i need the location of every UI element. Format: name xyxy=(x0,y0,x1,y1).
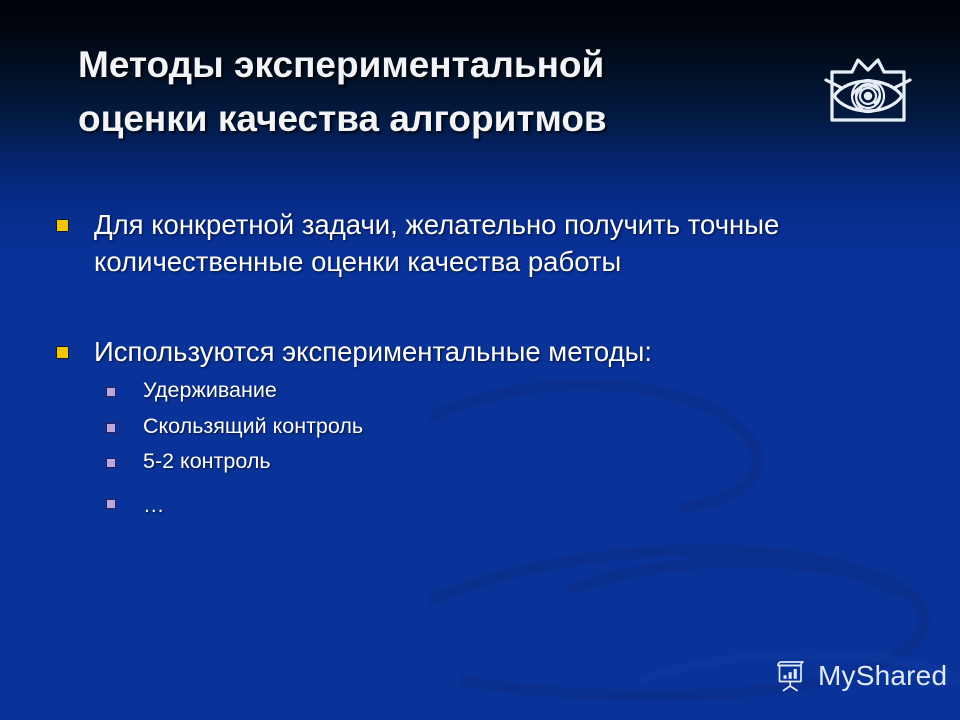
sub-bullet-item-2: Скользящий контроль xyxy=(52,416,932,438)
sub-bullet-item-1: Удерживание xyxy=(52,380,932,402)
slide-title-line-2: оценки качества алгоритмов xyxy=(78,92,798,146)
square-bullet-icon xyxy=(56,219,69,232)
eye-icon xyxy=(822,46,914,134)
square-bullet-icon xyxy=(56,346,69,359)
sub-bullet-item-2-label: Скользящий контроль xyxy=(143,414,363,438)
square-sub-bullet-icon xyxy=(106,458,116,468)
bullet-item-1-line-1: Для конкретной задачи, желательно получи… xyxy=(94,209,779,240)
bullet-item-2-line-1: Используются экспериментальные методы: xyxy=(94,336,652,367)
sub-bullet-item-4: … xyxy=(52,495,932,517)
bullet-item-1: Для конкретной задачи, желательно получи… xyxy=(52,206,932,281)
square-sub-bullet-icon xyxy=(106,423,116,433)
sub-bullet-item-3: 5-2 контроль xyxy=(52,451,932,473)
square-sub-bullet-icon xyxy=(106,387,116,397)
myshared-label: MyShared xyxy=(818,660,947,692)
bullet-item-1-line-2: количественные оценки качества работы xyxy=(94,246,621,277)
sub-bullet-item-1-label: Удерживание xyxy=(143,378,277,402)
slide-canvas: Методы экспериментальной оценки качества… xyxy=(0,0,960,720)
sub-bullet-item-4-label: … xyxy=(143,493,165,517)
sub-bullet-list: Удерживание Скользящий контроль 5-2 конт… xyxy=(52,380,932,516)
square-sub-bullet-icon xyxy=(106,499,116,509)
slide-title: Методы экспериментальной оценки качества… xyxy=(78,38,798,146)
bullet-item-2: Используются экспериментальные методы: xyxy=(52,333,932,370)
body-spacer xyxy=(52,281,932,333)
slide-body: Для конкретной задачи, желательно получи… xyxy=(52,206,932,516)
myshared-watermark: MyShared xyxy=(774,660,947,692)
presentation-chart-icon xyxy=(774,660,808,692)
slide-title-line-1: Методы экспериментальной xyxy=(78,38,798,92)
sub-bullet-item-3-label: 5-2 контроль xyxy=(143,449,271,473)
